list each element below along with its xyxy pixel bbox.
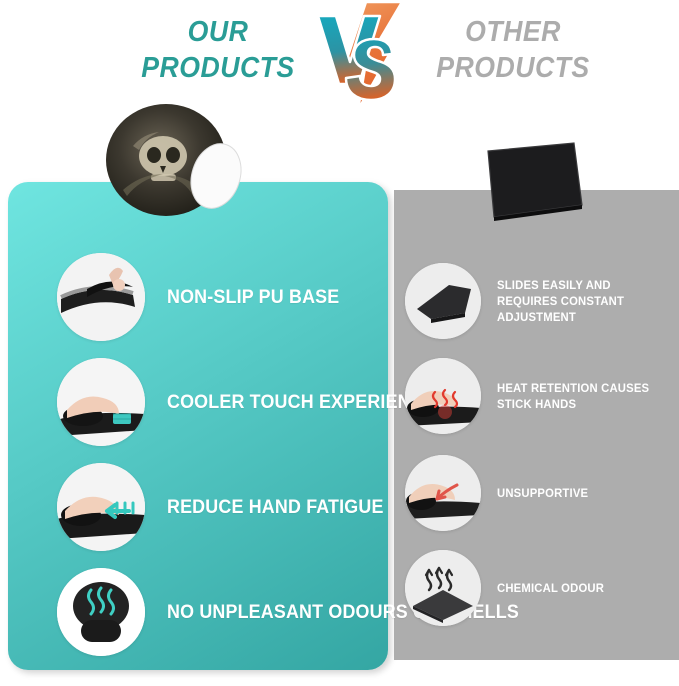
our-feature-label-2: COOLER TOUCH EXPERIENCE (167, 390, 436, 415)
other-feature-label-1: SLIDES EASILY AND REQUIRES CONSTANT ADJU… (497, 277, 668, 325)
black-mouse-pad-shape (488, 143, 582, 217)
peel-base-icon (57, 253, 145, 341)
our-products-heading: OUR PRODUCTS (126, 14, 310, 86)
header: OUR PRODUCTS (0, 0, 679, 110)
our-products-heading-line1: OUR (126, 14, 310, 50)
odour-free-icon (57, 568, 145, 656)
our-products-heading-line2: PRODUCTS (126, 50, 310, 86)
sliding-pad-icon (405, 263, 481, 339)
heat-hand-icon (405, 358, 481, 434)
our-product-image (103, 98, 253, 224)
cool-wrist-icon (57, 358, 145, 446)
our-feature-row-3: REDUCE HAND FATIGUE (57, 463, 397, 551)
other-feature-label-4: CHEMICAL ODOUR (497, 580, 604, 596)
comparison-infographic: OUR PRODUCTS (0, 0, 679, 686)
versus-icon (306, 0, 412, 112)
other-products-heading-line2: PRODUCTS (416, 50, 609, 86)
other-feature-row-2: HEAT RETENTION CAUSES STICK HANDS (405, 358, 679, 434)
hand-support-icon (57, 463, 145, 551)
other-product-image (478, 133, 591, 225)
flat-wrist-icon (405, 455, 481, 531)
our-feature-label-3: REDUCE HAND FATIGUE (167, 495, 384, 520)
other-feature-row-4: CHEMICAL ODOUR (405, 550, 611, 626)
chemical-fume-icon (405, 550, 481, 626)
other-products-heading: OTHER PRODUCTS (416, 14, 609, 86)
our-feature-row-2: COOLER TOUCH EXPERIENCE (57, 358, 453, 446)
versus-badge (306, 0, 412, 112)
other-feature-row-1: SLIDES EASILY AND REQUIRES CONSTANT ADJU… (405, 263, 679, 339)
our-feature-row-1: NON-SLIP PU BASE (57, 253, 350, 341)
our-feature-label-1: NON-SLIP PU BASE (167, 285, 339, 310)
other-feature-row-3: UNSUPPORTIVE (405, 455, 594, 531)
other-products-heading-line1: OTHER (416, 14, 609, 50)
other-feature-label-3: UNSUPPORTIVE (497, 485, 588, 501)
other-feature-label-2: HEAT RETENTION CAUSES STICK HANDS (497, 380, 668, 412)
